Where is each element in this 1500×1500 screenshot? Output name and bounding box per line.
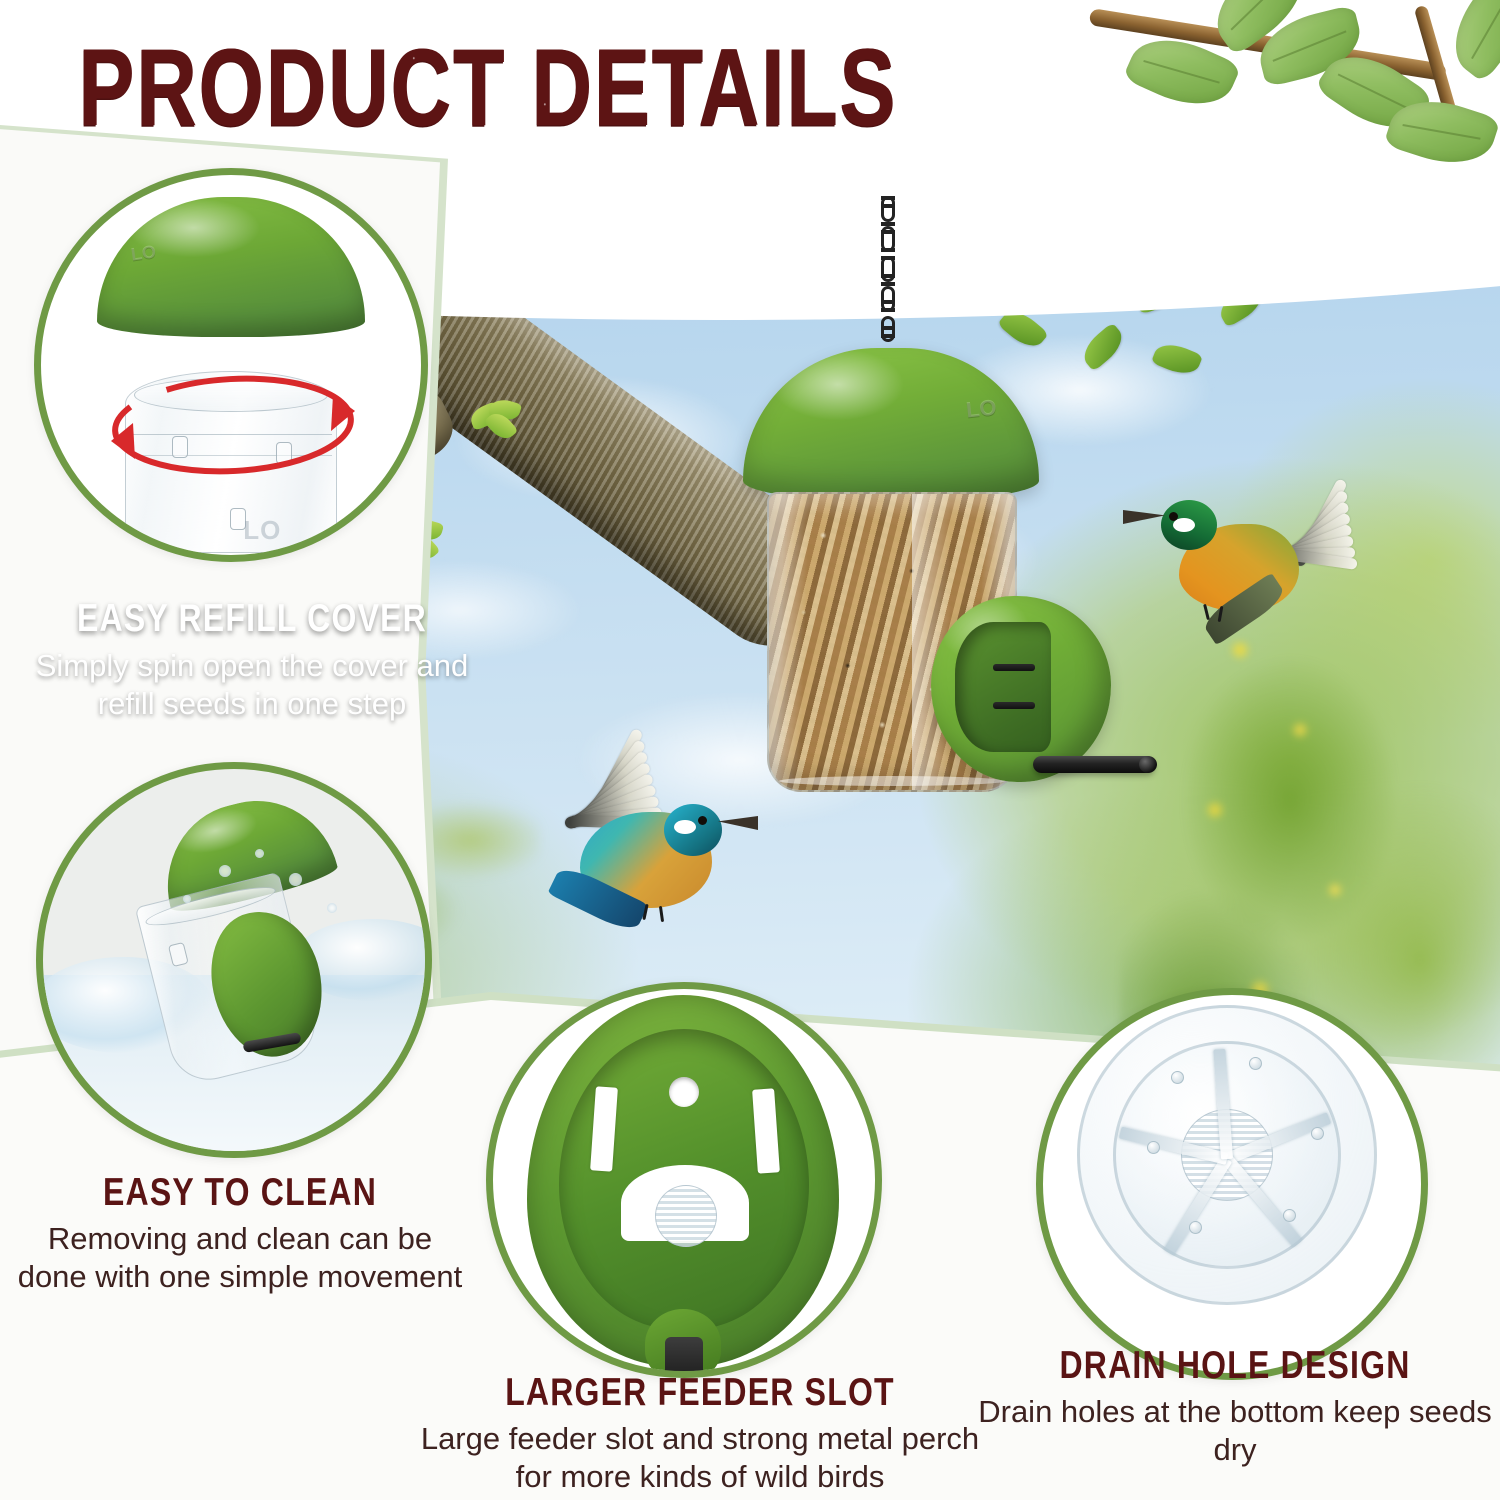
- cylinder-bottom-lip: [779, 776, 1005, 786]
- feature-body: Simply spin open the cover and refill se…: [18, 647, 486, 723]
- hero-product-feeder: LO: [735, 196, 1155, 916]
- bird-left: [430, 716, 760, 1006]
- caption-easy-to-clean: EASY TO CLEAN Removing and clean can be …: [10, 1172, 470, 1296]
- clear-cylinder: LO: [125, 371, 337, 553]
- corner-branch-decoration: [1090, 0, 1500, 220]
- metal-perch: [1033, 756, 1155, 773]
- port-bar: [993, 702, 1035, 709]
- caption-larger-feeder-slot: LARGER FEEDER SLOT Large feeder slot and…: [410, 1372, 990, 1496]
- drain-hole: [1189, 1221, 1202, 1234]
- feeder-port: [931, 596, 1111, 782]
- caption-drain-hole-design: DRAIN HOLE DESIGN Drain holes at the bot…: [970, 1345, 1500, 1469]
- hanging-chain: [881, 196, 895, 356]
- drain-hole: [1283, 1209, 1296, 1222]
- cover-emboss-text: LO: [130, 241, 158, 265]
- feature-body: Drain holes at the bottom keep seeds dry: [970, 1393, 1500, 1469]
- feature-image-drain-hole-design: [1036, 988, 1428, 1380]
- drain-hole: [1249, 1057, 1262, 1070]
- port-bar: [993, 664, 1035, 671]
- feature-body: Removing and clean can be done with one …: [10, 1220, 470, 1296]
- feature-heading: DRAIN HOLE DESIGN: [970, 1345, 1500, 1384]
- brand-emboss-logo: LO: [965, 394, 998, 423]
- drain-hole: [1147, 1141, 1160, 1154]
- dome-cover: LO: [97, 197, 365, 337]
- threaded-neck: [655, 1185, 717, 1247]
- bird-left-foot: [659, 906, 664, 922]
- bird-left-beak: [718, 816, 758, 830]
- water-droplet: [327, 903, 337, 913]
- bird-right: [1145, 462, 1415, 692]
- feature-image-easy-refill-cover: LO LO: [34, 168, 428, 562]
- drain-hole: [1171, 1071, 1184, 1084]
- feature-image-larger-feeder-slot: [486, 982, 882, 1378]
- page-title: PRODUCT DETAILS: [78, 34, 897, 144]
- feature-body: Large feeder slot and strong metal perch…: [410, 1420, 990, 1496]
- bird-left-cheek: [674, 820, 696, 834]
- caption-easy-refill-cover: EASY REFILL COVER Simply spin open the c…: [18, 598, 486, 723]
- page-title-text: PRODUCT DETAILS: [78, 27, 897, 149]
- branch-sprout: [470, 400, 524, 434]
- port-screw-hole: [669, 1077, 699, 1107]
- water-droplet: [183, 895, 191, 903]
- cylinder-emboss-text: LO: [243, 515, 281, 546]
- feature-heading: EASY TO CLEAN: [10, 1172, 470, 1211]
- water-droplet: [219, 865, 231, 877]
- infographic-canvas: PRODUCT DETAILS LO: [0, 0, 1500, 1500]
- drain-hole: [1311, 1127, 1324, 1140]
- water-droplet: [289, 873, 302, 886]
- feeder-dome-cap: LO: [743, 348, 1039, 500]
- feeder-port-cavity: [955, 622, 1051, 752]
- bird-right-eye: [1169, 512, 1178, 521]
- water-droplet: [255, 849, 264, 858]
- feature-image-easy-to-clean: [36, 762, 432, 1158]
- feature-heading: EASY REFILL COVER: [18, 598, 486, 637]
- bird-left-eye: [698, 816, 707, 825]
- feature-heading: LARGER FEEDER SLOT: [410, 1372, 990, 1411]
- bird-right-cheek: [1173, 518, 1195, 532]
